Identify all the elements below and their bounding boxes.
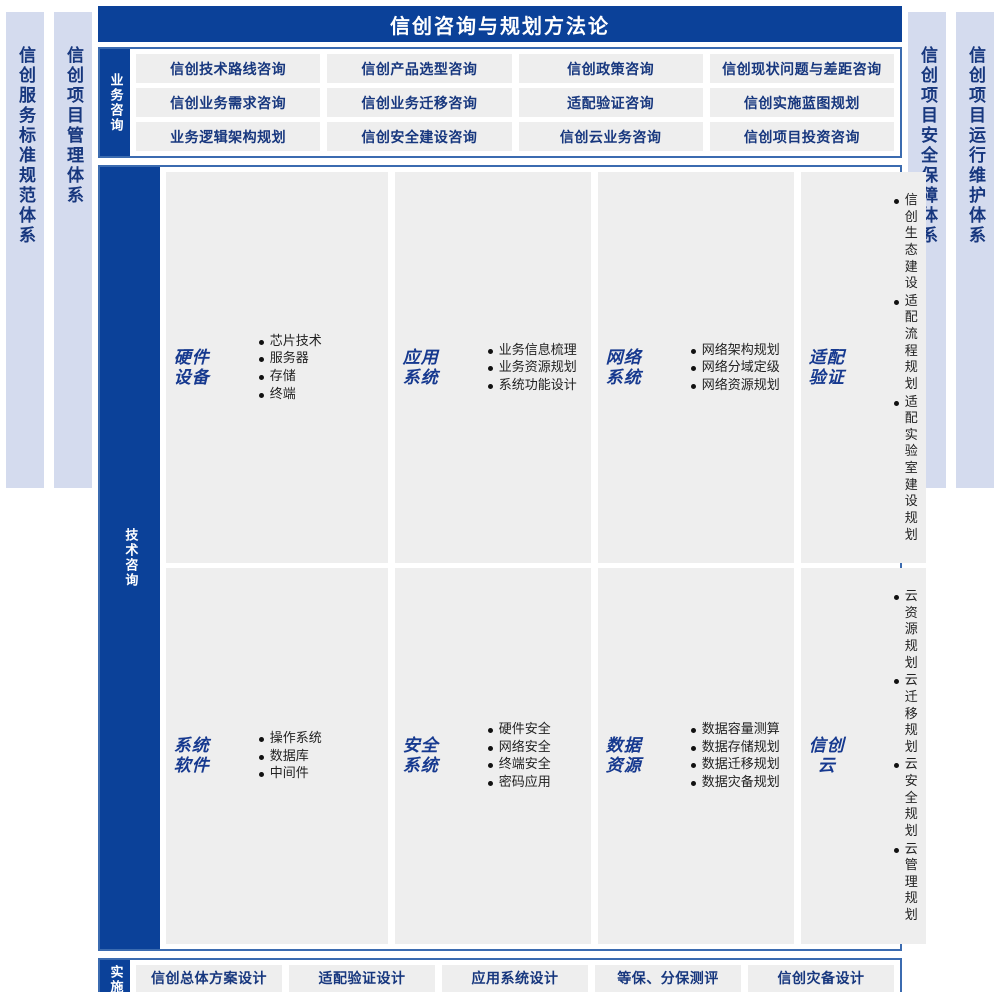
list-item: 适配流程规划 (893, 293, 918, 393)
card-adaptation-bullets: 信创生态建设 适配流程规划 适配实验室建 设规划 (853, 192, 918, 543)
table-row: 硬件 设备 芯片技术 服务器 存储 终端 应用 系统 (166, 172, 926, 563)
list-item: 网络资源规划 (690, 377, 786, 394)
table-row: 信创总体方案设计 适配验证设计 应用系统设计 等保、分保测评 信创灾备设计 (136, 965, 894, 992)
tile-business-1-0[interactable]: 信创业务需求咨询 (136, 88, 320, 117)
tile-implementation-0-3[interactable]: 等保、分保测评 (595, 965, 741, 992)
list-item: 数据迁移规划 (690, 756, 786, 773)
tile-business-2-1[interactable]: 信创安全建设咨询 (327, 122, 511, 151)
card-network-bullets: 网络架构规划 网络分域定级 网络资源规划 (650, 342, 786, 394)
card-security-head: 安全 系统 (403, 736, 439, 775)
list-item: 操作系统 (258, 730, 380, 747)
card-data-resource-head-2: 资源 (606, 756, 642, 776)
list-item: 适配实验室建 设规划 (893, 394, 918, 544)
pillar-left-2-label: 信创项目管理体系 (63, 46, 83, 206)
section-technical-label-text: 技术咨询 (122, 528, 137, 588)
table-row: 信创业务需求咨询 信创业务迁移咨询 适配验证咨询 信创实施蓝图规划 (136, 88, 894, 117)
tile-business-2-2[interactable]: 信创云业务咨询 (519, 122, 703, 151)
list-item: 网络分域定级 (690, 359, 786, 376)
section-implementation-body: 信创总体方案设计 适配验证设计 应用系统设计 等保、分保测评 信创灾备设计 信创… (130, 960, 900, 992)
tile-implementation-0-2[interactable]: 应用系统设计 (442, 965, 588, 992)
list-item: 系统功能设计 (487, 377, 583, 394)
center-column: 信创咨询与规划方法论 业务咨询 信创技术路线咨询 信创产品选型咨询 信创政策咨询… (98, 6, 902, 490)
card-network-head: 网络 系统 (606, 348, 642, 387)
tile-business-1-3[interactable]: 信创实施蓝图规划 (710, 88, 894, 117)
card-hardware-bullets: 芯片技术 服务器 存储 终端 (218, 333, 380, 403)
card-system-software-head-1: 系统 (174, 736, 210, 756)
list-item: 芯片技术 (258, 333, 380, 350)
tile-business-1-1[interactable]: 信创业务迁移咨询 (327, 88, 511, 117)
card-application-bullets: 业务信息梳理 业务资源规划 系统功能设计 (447, 342, 583, 394)
list-item: 硬件安全 (487, 721, 583, 738)
card-application-head-1: 应用 (403, 348, 439, 368)
card-adaptation-head-2: 验证 (809, 368, 845, 388)
list-item: 终端安全 (487, 756, 583, 773)
table-row: 系统 软件 操作系统 数据库 中间件 安全 系统 (166, 568, 926, 944)
list-item: 云迁移规划 (893, 672, 918, 755)
section-implementation: 实施咨询 信创总体方案设计 适配验证设计 应用系统设计 等保、分保测评 信创灾备… (98, 958, 902, 992)
section-technical-label: 技术咨询 (100, 167, 160, 949)
list-item: 信创生态建设 (893, 192, 918, 292)
card-cloud-bullets: 云资源规划 云迁移规划 云安全规划 云管理规划 (853, 588, 918, 924)
list-item: 中间件 (258, 765, 380, 782)
pillar-left-1-label: 信创服务标准规范体系 (15, 46, 35, 246)
card-cloud[interactable]: 信创 云 云资源规划 云迁移规划 云安全规划 云管理规划 (801, 568, 926, 944)
tile-business-2-3[interactable]: 信创项目投资咨询 (710, 122, 894, 151)
card-network-head-1: 网络 (606, 348, 642, 368)
card-data-resource-head: 数据 资源 (606, 736, 642, 775)
section-implementation-label: 实施咨询 (100, 960, 130, 992)
tile-business-0-2[interactable]: 信创政策咨询 (519, 54, 703, 83)
list-item: 数据存储规划 (690, 739, 786, 756)
section-business: 业务咨询 信创技术路线咨询 信创产品选型咨询 信创政策咨询 信创现状问题与差距咨… (98, 47, 902, 158)
section-implementation-label-text: 实施咨询 (108, 965, 123, 992)
card-adaptation-head-1: 适配 (809, 348, 845, 368)
card-system-software-head-2: 软件 (174, 756, 210, 776)
list-item: 云安全规划 (893, 756, 918, 839)
tile-business-1-2[interactable]: 适配验证咨询 (519, 88, 703, 117)
list-item: 密码应用 (487, 774, 583, 791)
card-adaptation[interactable]: 适配 验证 信创生态建设 适配流程规划 适配实验室建 设规划 (801, 172, 926, 563)
card-security-head-2: 系统 (403, 756, 439, 776)
pillar-right-2: 信创项目运行维护体系 (956, 12, 994, 488)
table-row: 信创技术路线咨询 信创产品选型咨询 信创政策咨询 信创现状问题与差距咨询 (136, 54, 894, 83)
card-security[interactable]: 安全 系统 硬件安全 网络安全 终端安全 密码应用 (395, 568, 591, 944)
tile-business-2-0[interactable]: 业务逻辑架构规划 (136, 122, 320, 151)
section-technical-body: 硬件 设备 芯片技术 服务器 存储 终端 应用 系统 (160, 167, 932, 949)
tile-business-0-0[interactable]: 信创技术路线咨询 (136, 54, 320, 83)
card-security-head-1: 安全 (403, 736, 439, 756)
diagram-canvas: 信创服务标准规范体系 信创项目管理体系 信创项目安全保障体系 信创项目运行维护体… (0, 0, 1000, 496)
card-data-resource-head-1: 数据 (606, 736, 642, 756)
card-cloud-head: 信创 云 (809, 736, 845, 775)
card-application-head: 应用 系统 (403, 348, 439, 387)
table-row: 业务逻辑架构规划 信创安全建设咨询 信创云业务咨询 信创项目投资咨询 (136, 122, 894, 151)
card-system-software-bullets: 操作系统 数据库 中间件 (218, 730, 380, 782)
diagram-title: 信创咨询与规划方法论 (98, 6, 902, 42)
tile-implementation-0-0[interactable]: 信创总体方案设计 (136, 965, 282, 992)
tile-implementation-0-4[interactable]: 信创灾备设计 (748, 965, 894, 992)
list-item: 存储 (258, 368, 380, 385)
card-security-bullets: 硬件安全 网络安全 终端安全 密码应用 (447, 721, 583, 791)
card-hardware-head-2: 设备 (174, 368, 210, 388)
list-item: 数据灾备规划 (690, 774, 786, 791)
card-system-software-head: 系统 软件 (174, 736, 210, 775)
card-data-resource[interactable]: 数据 资源 数据容量测算 数据存储规划 数据迁移规划 数据灾备规划 (598, 568, 794, 944)
list-item: 服务器 (258, 350, 380, 367)
card-hardware-head-1: 硬件 (174, 348, 210, 368)
list-item: 数据容量测算 (690, 721, 786, 738)
card-adaptation-head: 适配 验证 (809, 348, 845, 387)
card-network-head-2: 系统 (606, 368, 642, 388)
card-cloud-head-1: 信创 (809, 736, 845, 756)
section-business-label: 业务咨询 (100, 49, 130, 156)
card-network[interactable]: 网络 系统 网络架构规划 网络分域定级 网络资源规划 (598, 172, 794, 563)
section-business-label-text: 业务咨询 (108, 73, 123, 133)
pillar-right-2-label: 信创项目运行维护体系 (965, 46, 985, 246)
card-application[interactable]: 应用 系统 业务信息梳理 业务资源规划 系统功能设计 (395, 172, 591, 563)
list-item: 云资源规划 (893, 588, 918, 671)
card-hardware[interactable]: 硬件 设备 芯片技术 服务器 存储 终端 (166, 172, 388, 563)
tile-business-0-3[interactable]: 信创现状问题与差距咨询 (710, 54, 894, 83)
pillar-left-2: 信创项目管理体系 (54, 12, 92, 488)
section-business-body: 信创技术路线咨询 信创产品选型咨询 信创政策咨询 信创现状问题与差距咨询 信创业… (130, 49, 900, 156)
list-item: 网络架构规划 (690, 342, 786, 359)
card-data-resource-bullets: 数据容量测算 数据存储规划 数据迁移规划 数据灾备规划 (650, 721, 786, 791)
list-item: 业务信息梳理 (487, 342, 583, 359)
tile-business-0-1[interactable]: 信创产品选型咨询 (327, 54, 511, 83)
list-item: 数据库 (258, 748, 380, 765)
list-item: 业务资源规划 (487, 359, 583, 376)
pillar-left-1: 信创服务标准规范体系 (6, 12, 44, 488)
card-system-software[interactable]: 系统 软件 操作系统 数据库 中间件 (166, 568, 388, 944)
section-technical: 技术咨询 硬件 设备 芯片技术 服务器 存储 终端 (98, 165, 902, 951)
card-hardware-head: 硬件 设备 (174, 348, 210, 387)
tile-implementation-0-1[interactable]: 适配验证设计 (289, 965, 435, 992)
list-item: 云管理规划 (893, 841, 918, 924)
card-cloud-head-2: 云 (809, 756, 845, 776)
list-item: 网络安全 (487, 739, 583, 756)
list-item: 终端 (258, 386, 380, 403)
card-application-head-2: 系统 (403, 368, 439, 388)
